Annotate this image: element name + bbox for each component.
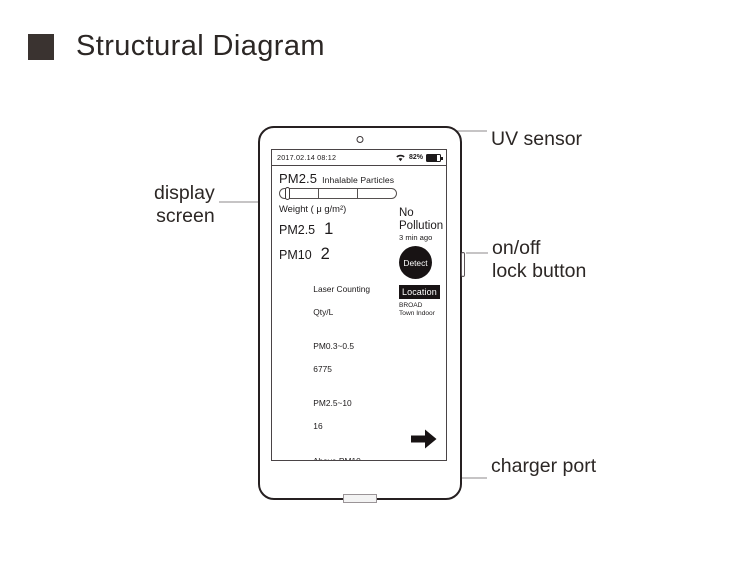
status-bar-right: 82% [395, 153, 441, 162]
location-detail: BROAD Town Indoor [399, 302, 447, 317]
location-detail-line1: BROAD [399, 302, 447, 310]
status-bar: 2017.02.14 08:12 82% [272, 150, 446, 166]
pm-slider[interactable] [279, 188, 397, 199]
charger-port [343, 494, 377, 503]
pm10-value: 2 [321, 245, 330, 264]
uv-sensor-dot-icon [357, 136, 364, 143]
on-off-lock-button[interactable] [461, 252, 465, 277]
pollution-status-line2: Pollution [399, 220, 447, 233]
pm10-label: PM10 [279, 248, 312, 262]
callout-onoff-line2: lock button [492, 260, 586, 283]
laser-row: PM0.3~0.5 6775 [290, 330, 439, 387]
pm-subtitle: Inhalable Particles [322, 175, 394, 185]
display-screen[interactable]: 2017.02.14 08:12 82% PM2.5 Inhalable Par… [271, 149, 447, 461]
pollution-status: No Pollution [399, 207, 447, 232]
detect-button[interactable]: Detect [399, 246, 432, 279]
pm25-label: PM2.5 [279, 223, 315, 237]
callout-uv-sensor: UV sensor [491, 128, 582, 151]
callout-display-screen-line2: screen [154, 205, 215, 228]
battery-percent: 82% [409, 154, 423, 161]
pm25-value: 1 [324, 220, 333, 239]
last-updated: 3 min ago [399, 233, 447, 242]
callout-onoff-lock-button: on/off lock button [492, 237, 586, 283]
location-button[interactable]: Location [399, 285, 440, 299]
laser-counting-title: Laser Counting [313, 284, 370, 294]
callout-display-screen-line1: display [154, 182, 215, 205]
laser-row-value: 6775 [313, 364, 332, 374]
laser-counting-unit: Qty/L [313, 307, 333, 317]
wifi-icon [395, 153, 406, 162]
arrow-right-icon[interactable] [411, 429, 437, 454]
location-detail-line2: Town Indoor [399, 310, 447, 318]
device-body: 2017.02.14 08:12 82% PM2.5 Inhalable Par… [258, 126, 462, 500]
pm-section-header: PM2.5 Inhalable Particles [279, 171, 439, 186]
status-datetime: 2017.02.14 08:12 [277, 153, 336, 162]
screen-content: PM2.5 Inhalable Particles No Pollution 3… [272, 171, 446, 461]
pm-status-column: No Pollution 3 min ago Detect Location B… [399, 207, 447, 317]
pollution-status-line1: No [399, 207, 447, 220]
battery-icon [426, 154, 441, 162]
laser-row-value: 16 [313, 421, 322, 431]
callout-display-screen: display screen [154, 182, 215, 228]
callout-onoff-line1: on/off [492, 237, 586, 260]
callout-charger-port: charger port [491, 455, 596, 478]
laser-row-label: Above PM10 [313, 456, 361, 462]
laser-row-label: PM0.3~0.5 [313, 341, 354, 351]
laser-row-label: PM2.5~10 [313, 398, 351, 408]
pm-title: PM2.5 [279, 171, 317, 186]
